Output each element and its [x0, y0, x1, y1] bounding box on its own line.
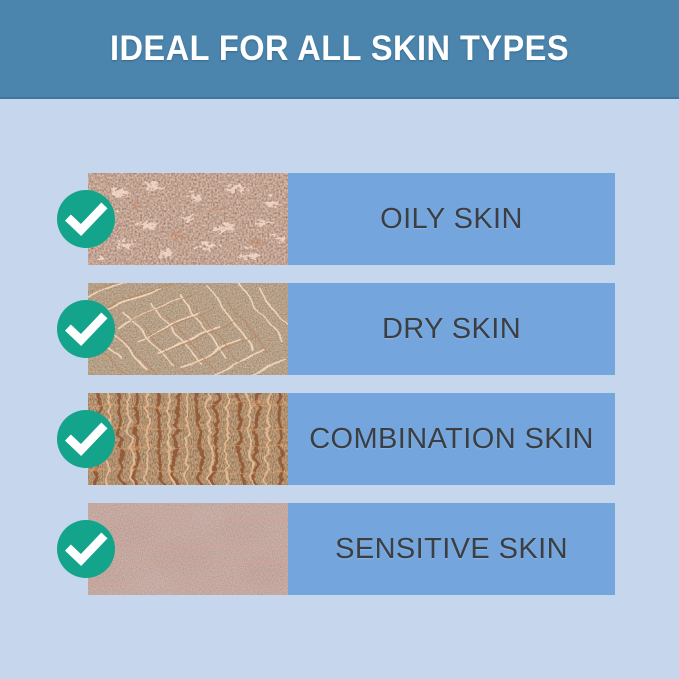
skin-type-row: DRY SKIN	[88, 283, 615, 375]
check-circle-icon	[57, 410, 115, 468]
skin-type-label-band: OILY SKIN	[288, 173, 615, 265]
skin-swatch-combination	[88, 393, 288, 485]
check-circle-icon	[57, 300, 115, 358]
skin-type-label-band: COMBINATION SKIN	[288, 393, 615, 485]
skin-type-label: SENSITIVE SKIN	[335, 533, 568, 566]
skin-type-row: COMBINATION SKIN	[88, 393, 615, 485]
skin-swatch-sensitive	[88, 503, 288, 595]
skin-swatch-dry	[88, 283, 288, 375]
skin-type-label: DRY SKIN	[382, 313, 521, 346]
skin-type-label-band: SENSITIVE SKIN	[288, 503, 615, 595]
infographic-canvas: IDEAL FOR ALL SKIN TYPES	[0, 0, 679, 679]
skin-type-label: COMBINATION SKIN	[309, 423, 594, 456]
skin-type-row: OILY SKIN	[88, 173, 615, 265]
header-banner: IDEAL FOR ALL SKIN TYPES	[0, 0, 679, 99]
check-circle-icon	[57, 190, 115, 248]
skin-type-label-band: DRY SKIN	[288, 283, 615, 375]
check-circle-icon	[57, 520, 115, 578]
skin-swatch-oily	[88, 173, 288, 265]
page-title: IDEAL FOR ALL SKIN TYPES	[24, 0, 655, 97]
skin-type-row: SENSITIVE SKIN	[88, 503, 615, 595]
skin-type-label: OILY SKIN	[380, 203, 523, 236]
